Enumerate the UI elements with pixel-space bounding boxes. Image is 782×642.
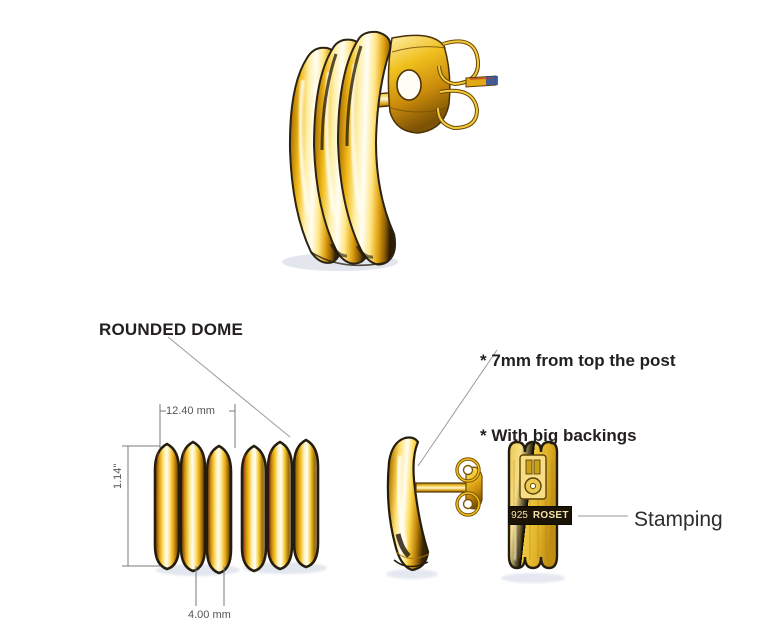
notes-block: * 7mm from top the post * With big backi… bbox=[480, 298, 676, 473]
note-big-backings: * With big backings bbox=[480, 423, 676, 448]
leader-rounded-dome bbox=[168, 337, 290, 437]
side-profile-view bbox=[386, 438, 482, 580]
front-view-plain bbox=[242, 440, 327, 574]
stamp-purity: 925 bbox=[511, 510, 528, 521]
hero-butterfly-clutch bbox=[388, 35, 498, 133]
hero-perspective-view bbox=[282, 32, 498, 271]
dimension-width-label: 12.40 mm bbox=[166, 405, 215, 417]
hero-ribs bbox=[290, 32, 395, 265]
note-post-height: * 7mm from top the post bbox=[480, 348, 676, 373]
dimension-height-label: 1.14" bbox=[112, 464, 124, 489]
front-view-dimensioned bbox=[155, 442, 240, 576]
stamp-brand: ROSET bbox=[533, 510, 569, 521]
stamp-plate: 925 ROSET bbox=[508, 506, 572, 525]
rounded-dome-label: ROUNDED DOME bbox=[99, 320, 243, 340]
dimension-depth-label: 4.00 mm bbox=[188, 609, 231, 621]
stamping-callout-label: Stamping bbox=[634, 508, 723, 532]
